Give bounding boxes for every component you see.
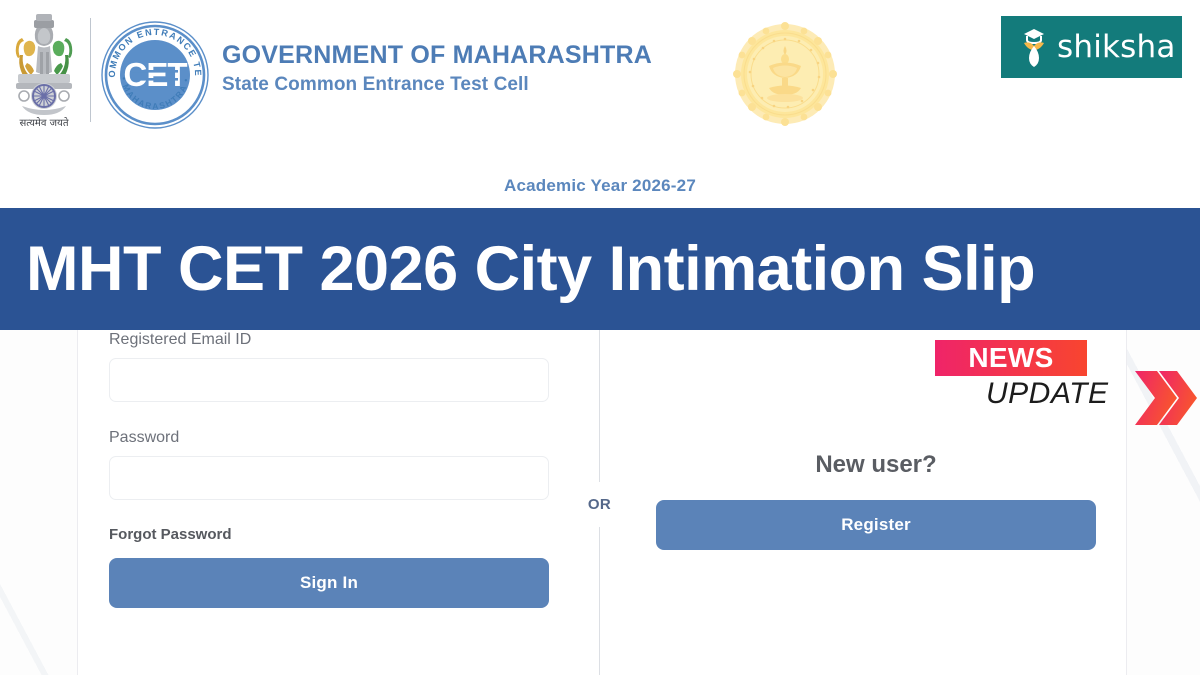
login-form-column: Registered Email ID Password Forgot Pass…	[109, 330, 579, 608]
news-label-box: NEWS	[935, 340, 1087, 376]
ashoka-lion-capital-emblem-icon: सत्यमेव जयते	[8, 8, 80, 130]
graduation-cap-icon	[1017, 27, 1051, 67]
government-title-block: GOVERNMENT OF MAHARASHTRA State Common E…	[222, 40, 742, 98]
password-input[interactable]	[109, 456, 549, 500]
double-chevron-right-icon	[1133, 369, 1199, 427]
email-field-label: Registered Email ID	[109, 330, 579, 350]
page-title: MHT CET 2026 City Intimation Slip	[26, 235, 1035, 303]
shiksha-logo[interactable]: shiksha	[1001, 16, 1182, 78]
page-title-banner: MHT CET 2026 City Intimation Slip	[0, 208, 1200, 330]
academic-year-label: Academic Year 2026-27	[0, 176, 1200, 196]
email-input[interactable]	[109, 358, 549, 402]
shiksha-wordmark: shiksha	[1057, 29, 1176, 65]
update-label: UPDATE	[986, 377, 1108, 411]
maharashtra-gold-seal-icon	[733, 22, 837, 126]
page-root: सत्यमेव जयते STATE COMMON ENTRANCE TEST …	[0, 0, 1200, 675]
svg-text:CET: CET	[124, 56, 188, 93]
or-separator-badge: OR	[577, 482, 622, 527]
password-field-label: Password	[109, 428, 579, 448]
new-user-heading: New user?	[651, 450, 1101, 480]
site-header: सत्यमेव जयते STATE COMMON ENTRANCE TEST …	[0, 0, 1200, 208]
news-update-badge: NEWS UPDATE	[935, 337, 1200, 427]
header-divider	[90, 18, 91, 122]
gov-title-line2: State Common Entrance Test Cell	[222, 72, 742, 98]
register-button[interactable]: Register	[656, 500, 1096, 550]
sign-in-button[interactable]: Sign In	[109, 558, 549, 608]
cet-seal-icon: STATE COMMON ENTRANCE TEST CELL • MAHARA…	[100, 20, 210, 130]
emblem-caption: सत्यमेव जयते	[19, 117, 68, 129]
forgot-password-link[interactable]: Forgot Password	[109, 526, 232, 543]
news-label: NEWS	[968, 343, 1053, 373]
gov-title-line1: GOVERNMENT OF MAHARASHTRA	[222, 40, 742, 70]
